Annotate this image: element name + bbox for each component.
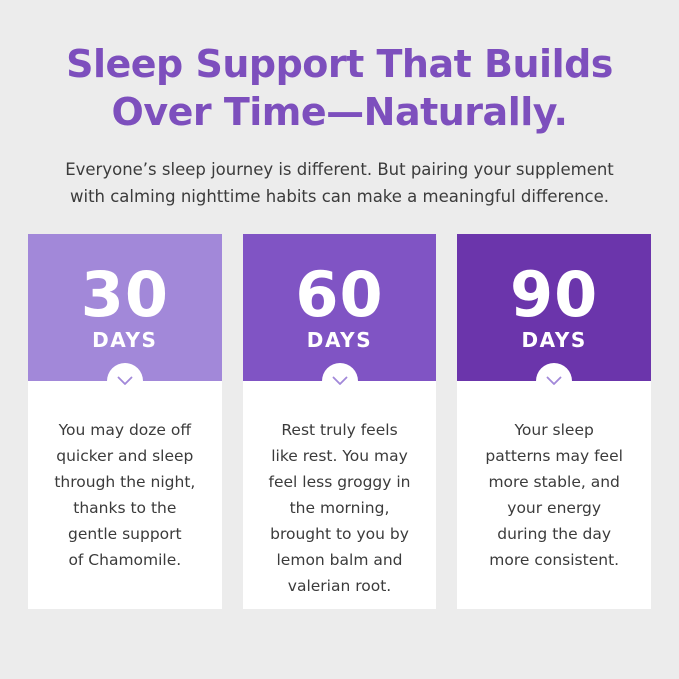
- card-header-90: 90 DAYS: [457, 234, 651, 381]
- card-unit-30: DAYS: [92, 328, 157, 352]
- card-body-line: valerian root.: [269, 573, 411, 599]
- page-subtitle: Everyone’s sleep journey is different. B…: [0, 136, 679, 210]
- card-body-line: more stable, and: [485, 469, 623, 495]
- card-unit-60: DAYS: [307, 328, 372, 352]
- card-body-line: through the night,: [54, 469, 195, 495]
- card-unit-90: DAYS: [521, 328, 586, 352]
- timeline-card-90-days: 90 DAYS Your sleep patterns may feel mor…: [457, 234, 651, 609]
- card-number-90: 90: [510, 264, 598, 326]
- card-body-line: Your sleep: [485, 417, 623, 443]
- card-body-line: your energy: [485, 495, 623, 521]
- card-body-60: Rest truly feels like rest. You may feel…: [253, 381, 427, 599]
- card-body-line: quicker and sleep: [54, 443, 195, 469]
- card-number-60: 60: [295, 264, 383, 326]
- card-body-30: You may doze off quicker and sleep throu…: [38, 381, 211, 573]
- chevron-down-icon: [536, 363, 572, 399]
- timeline-card-60-days: 60 DAYS Rest truly feels like rest. You …: [243, 234, 437, 609]
- card-body-line: the morning,: [269, 495, 411, 521]
- page-subtitle-line-1: Everyone’s sleep journey is different. B…: [32, 156, 647, 183]
- card-header-30: 30 DAYS: [28, 234, 222, 381]
- card-body-line: gentle support: [54, 521, 195, 547]
- infographic-page: Sleep Support That Builds Over Time—Natu…: [0, 0, 679, 679]
- card-body-90: Your sleep patterns may feel more stable…: [469, 381, 639, 573]
- card-body-line: like rest. You may: [269, 443, 411, 469]
- page-title: Sleep Support That Builds Over Time—Natu…: [0, 0, 679, 136]
- card-body-line: lemon balm and: [269, 547, 411, 573]
- card-body-line: brought to you by: [269, 521, 411, 547]
- page-title-line-1: Sleep Support That Builds: [40, 40, 639, 88]
- card-header-60: 60 DAYS: [243, 234, 437, 381]
- card-body-line: patterns may feel: [485, 443, 623, 469]
- card-body-line: more consistent.: [485, 547, 623, 573]
- card-body-line: thanks to the: [54, 495, 195, 521]
- timeline-cards: 30 DAYS You may doze off quicker and sle…: [0, 210, 679, 609]
- chevron-down-icon: [107, 363, 143, 399]
- page-title-line-2: Over Time—Naturally.: [40, 88, 639, 136]
- card-body-line: Rest truly feels: [269, 417, 411, 443]
- card-body-line: of Chamomile.: [54, 547, 195, 573]
- card-number-30: 30: [81, 264, 169, 326]
- page-subtitle-line-2: with calming nighttime habits can make a…: [32, 183, 647, 210]
- card-body-line: feel less groggy in: [269, 469, 411, 495]
- chevron-down-icon: [322, 363, 358, 399]
- card-body-line: during the day: [485, 521, 623, 547]
- timeline-card-30-days: 30 DAYS You may doze off quicker and sle…: [28, 234, 222, 609]
- card-body-line: You may doze off: [54, 417, 195, 443]
